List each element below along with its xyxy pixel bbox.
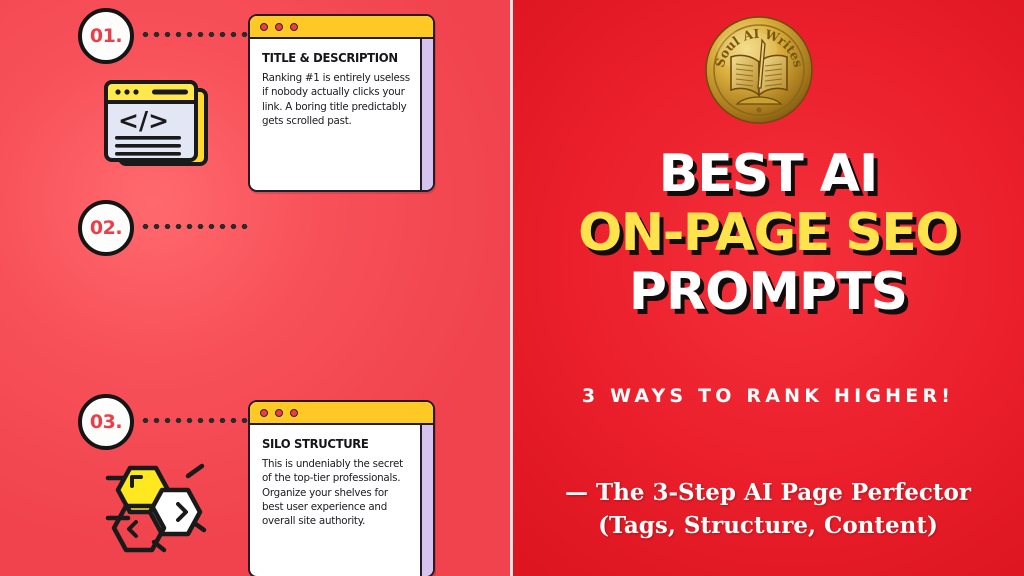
code-window-icon: </> bbox=[100, 76, 212, 181]
card-scrollbar[interactable] bbox=[420, 425, 433, 576]
tagline-line-1: — The 3-Step AI Page Perfector bbox=[512, 476, 1024, 509]
step-number-label: 01. bbox=[90, 25, 122, 47]
title-line-1: BEST AI bbox=[512, 148, 1024, 200]
step-number-badge-1: 01. bbox=[78, 8, 134, 64]
tagline-line-2: (Tags, Structure, Content) bbox=[512, 509, 1024, 542]
main-title: BEST AI ON-PAGE SEO PROMPTS bbox=[512, 148, 1024, 318]
card-content: SILO STRUCTURE This is undeniably the se… bbox=[250, 425, 420, 576]
connector-dots-2 bbox=[140, 224, 250, 229]
connector-dots-3 bbox=[140, 418, 250, 423]
connector-dots-1 bbox=[140, 32, 250, 37]
step-number-badge-2: 02. bbox=[78, 200, 134, 256]
window-dot-minimize-icon bbox=[275, 409, 283, 417]
card-title-bar bbox=[250, 402, 433, 425]
title-line-3: PROMPTS bbox=[512, 266, 1024, 318]
card-heading: TITLE & DESCRIPTION bbox=[262, 50, 400, 65]
window-dot-minimize-icon bbox=[275, 23, 283, 31]
step-card-1[interactable]: TITLE & DESCRIPTION Ranking #1 is entire… bbox=[248, 14, 435, 192]
window-dot-maximize-icon bbox=[290, 409, 298, 417]
card-paragraph: Ranking #1 is entirely useless if nobody… bbox=[262, 71, 410, 128]
step-number-label: 02. bbox=[90, 217, 122, 239]
tagline: — The 3-Step AI Page Perfector (Tags, St… bbox=[512, 476, 1024, 542]
card-title-bar bbox=[250, 16, 433, 39]
step-item: 02. bbox=[0, 196, 512, 386]
window-dot-maximize-icon bbox=[290, 23, 298, 31]
step-item: 01. </> bbox=[0, 4, 512, 194]
card-content: TITLE & DESCRIPTION Ranking #1 is entire… bbox=[250, 39, 420, 190]
hexagon-molecule-icon bbox=[98, 446, 216, 559]
infographic-canvas: 01. </> bbox=[0, 0, 1024, 576]
step-number-label: 03. bbox=[90, 411, 122, 433]
svg-text:</>: </> bbox=[118, 106, 169, 135]
card-scrollbar[interactable] bbox=[420, 39, 433, 190]
card-paragraph: This is undeniably the secret of the top… bbox=[262, 457, 410, 528]
card-body: TITLE & DESCRIPTION Ranking #1 is entire… bbox=[250, 39, 433, 190]
card-heading: SILO STRUCTURE bbox=[262, 436, 400, 451]
step-number-badge-3: 03. bbox=[78, 394, 134, 450]
step-card-2[interactable]: SILO STRUCTURE This is undeniably the se… bbox=[248, 400, 435, 576]
soul-ai-writes-medallion-logo: Soul AI Writes bbox=[703, 14, 815, 126]
window-dot-close-icon bbox=[260, 409, 268, 417]
card-body: SILO STRUCTURE This is undeniably the se… bbox=[250, 425, 433, 576]
subtitle: 3 WAYS TO RANK HIGHER! bbox=[512, 385, 1024, 407]
window-dot-close-icon bbox=[260, 23, 268, 31]
title-line-2: ON-PAGE SEO bbox=[512, 207, 1024, 259]
steps-list: 01. </> bbox=[0, 0, 512, 576]
